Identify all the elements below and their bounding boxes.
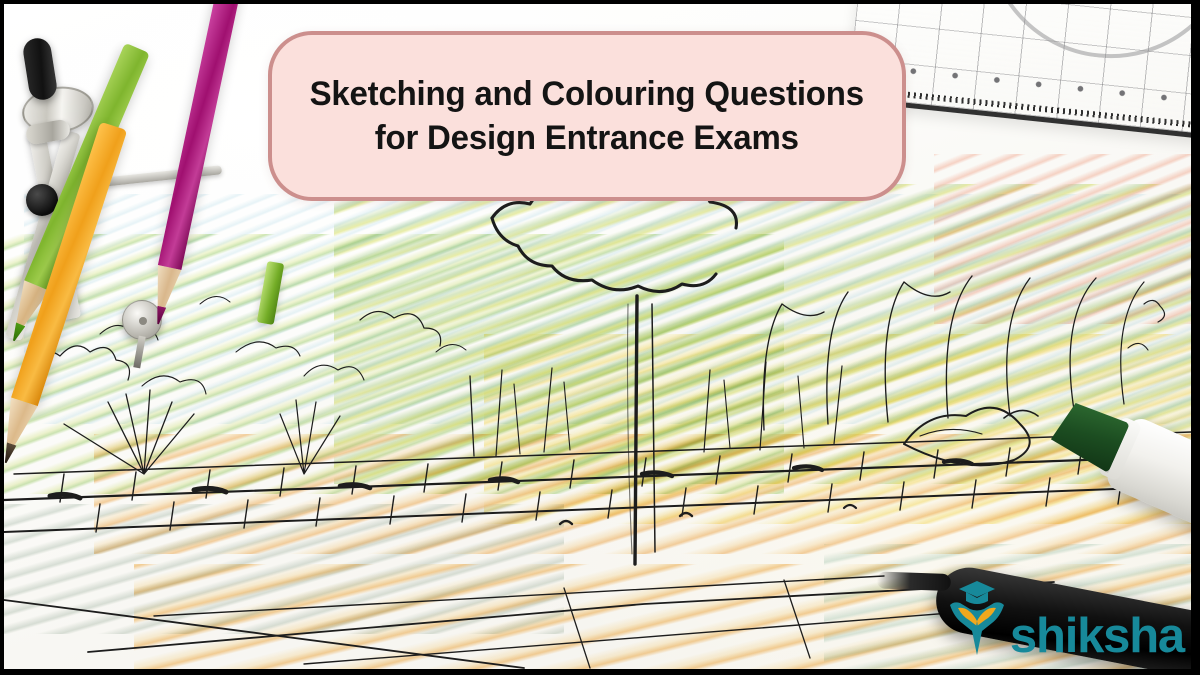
shiksha-logo[interactable]: shiksha [948,581,1184,657]
frame-right-bar [1191,0,1200,675]
page-title-line-1: Sketching and Colouring Questions [310,75,864,113]
hero-poster: Sketching and Colouring Questions for De… [0,0,1200,675]
pen-nib-icon [948,601,1006,657]
shiksha-logo-mark [948,581,1006,657]
title-banner: Sketching and Colouring Questions for De… [268,31,906,201]
brush-pen-tip [877,571,952,591]
page-title: Sketching and Colouring Questions for De… [285,72,890,160]
frame-bottom-bar [0,669,1200,675]
shiksha-wordmark: shiksha [1010,616,1184,656]
compass-pivot-screw [122,300,162,340]
page-title-line-2: for Design Entrance Exams [310,116,864,160]
